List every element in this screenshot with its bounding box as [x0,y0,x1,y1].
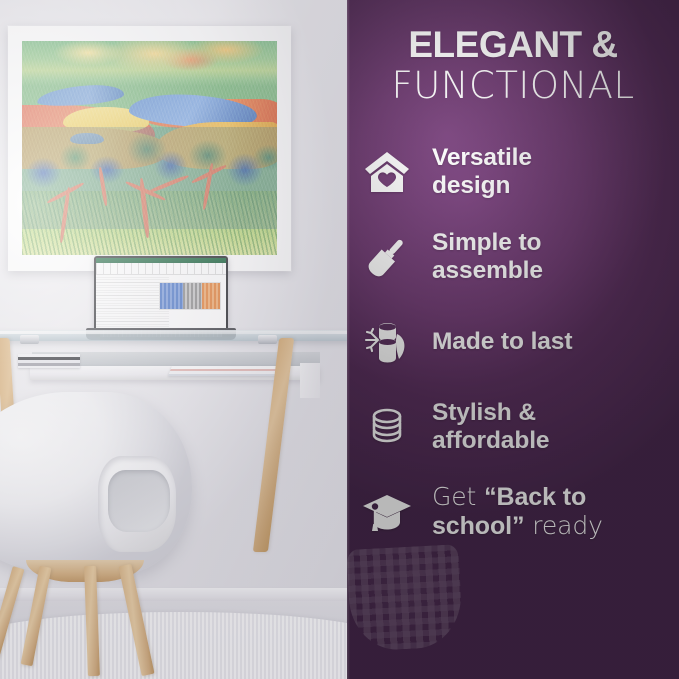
feature-item-versatile-design: Versatile design [361,140,679,203]
feature-item-simple-to-assemble: Simple to assemble [361,225,679,288]
cta-prefix: Get [432,482,484,511]
feature-label-line-2: affordable [432,427,549,454]
cta-label: Get “Back to school” ready [432,483,603,540]
feature-label-line-2: design [432,172,510,199]
feature-item-made-to-last: Made to last [361,310,679,373]
cta-suffix: ready [524,511,602,540]
woven-wicker-basket [347,544,464,652]
feature-item-back-to-school: Get “Back to school” ready [361,480,679,543]
bamboo-leaf-icon [361,316,413,368]
lifestyle-photo [0,0,352,679]
feature-label: Simple to assemble [432,229,543,285]
panel-left-edge [347,0,350,679]
screwdriver-icon [361,231,413,283]
graduation-cap-icon [361,486,413,538]
feature-label-line-2: assemble [432,257,543,284]
feature-label-line-1: Versatile [432,144,532,171]
photo-vignette [0,0,352,679]
page-title: ELEGANT & FUNCTIONAL [347,26,679,106]
house-heart-icon [361,146,413,198]
feature-item-stylish-affordable: Stylish & affordable [361,395,679,458]
headline-line-1: ELEGANT & [347,26,679,65]
feature-label-line-1: Stylish & [432,399,536,426]
feature-list: Versatile design Simple to [361,140,679,565]
feature-label-line-1: Simple to [432,229,541,256]
features-panel: ELEGANT & FUNCTIONAL Versatile design [347,0,679,679]
coins-stack-icon [361,401,413,453]
cta-quoted-line-2: school” [432,512,524,540]
feature-label: Versatile design [432,144,532,200]
feature-label: Made to last [432,328,572,356]
cta-quoted-line-1: “Back to [484,483,586,511]
headline-line-2: FUNCTIONAL [347,65,679,106]
product-feature-banner: ELEGANT & FUNCTIONAL Versatile design [0,0,679,679]
feature-label: Stylish & affordable [432,399,549,455]
